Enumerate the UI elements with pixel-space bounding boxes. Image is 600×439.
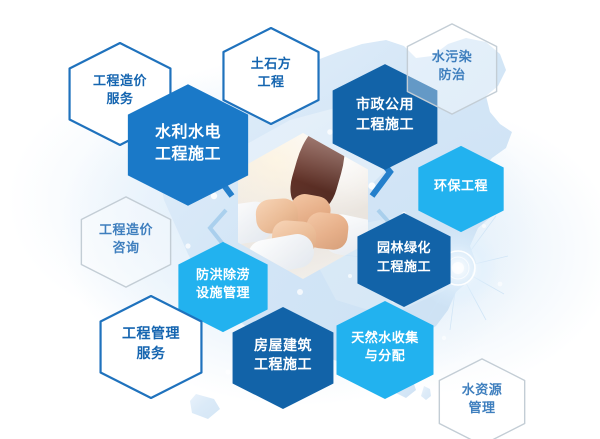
hexagon-label-line: 防洪除涝: [196, 268, 250, 284]
hexagon-label-line: 工程管理: [122, 326, 180, 344]
hexagon-label: 工程管理服务: [122, 326, 180, 363]
hexagon-label-line: 水资源: [462, 383, 503, 399]
hexagon-label-line: 园林绿化: [377, 241, 431, 257]
hexagon-label-line: 工程施工: [254, 357, 312, 375]
hexagon-natural-water-collection-distribution[interactable]: 天然水收集与分配: [335, 300, 435, 396]
infographic-canvas: 工程造价服务土石方工程水利水电工程施工市政公用工程施工水污染防治环保工程工程造价…: [0, 0, 600, 439]
hexagon-label-line: 水污染: [432, 50, 473, 66]
hexagon-label-line: 工程造价: [99, 223, 153, 239]
hexagon-label-line: 水利水电: [155, 122, 221, 142]
hexagon-label-line: 设施管理: [196, 286, 250, 302]
hexagon-building-construction-engineering[interactable]: 房屋建筑工程施工: [231, 306, 335, 406]
hexagon-label-line: 工程施工: [377, 260, 431, 276]
hexagon-label-line: 与分配: [351, 349, 419, 365]
hexagon-landscaping-engineering-construction[interactable]: 园林绿化工程施工: [356, 212, 452, 305]
hexagon-label-line: 天然水收集: [351, 331, 419, 347]
hexagon-label-line: 工程施工: [155, 144, 221, 164]
hexagon-label: 工程造价服务: [93, 74, 147, 109]
hexagon-label-line: 防治: [432, 68, 473, 84]
hexagon-label-line: 市政公用: [356, 97, 414, 115]
hexagon-label-line: 工程造价: [93, 74, 147, 90]
hexagon-label-line: 管理: [462, 401, 503, 417]
hexagon-label: 园林绿化工程施工: [377, 241, 431, 276]
hexagon-label-line: 土石方: [251, 57, 292, 73]
hexagon-label: 土石方工程: [251, 57, 292, 92]
hexagon-engineering-cost-consulting[interactable]: 工程造价咨询: [80, 196, 172, 284]
hexagon-label: 水污染防治: [432, 50, 473, 85]
hexagon-water-pollution-control[interactable]: 水污染防治: [406, 23, 498, 111]
hexagon-label: 工程造价咨询: [99, 223, 153, 258]
hexagon-label: 水利水电工程施工: [155, 122, 221, 164]
hexagon-label: 天然水收集与分配: [351, 331, 419, 366]
hexagon-label: 防洪除涝设施管理: [196, 268, 250, 303]
hexagon-label-line: 咨询: [99, 241, 153, 257]
hexagon-water-resources-management[interactable]: 水资源管理: [438, 358, 526, 439]
hexagon-label-line: 环保工程: [434, 179, 488, 195]
hexagon-label-line: 房屋建筑: [254, 338, 312, 356]
hexagon-label: 房屋建筑工程施工: [254, 338, 312, 375]
hexagon-label-line: 工程: [251, 75, 292, 91]
hexagon-engineering-management-service[interactable]: 工程管理服务: [99, 295, 203, 394]
hexagon-label: 环保工程: [434, 179, 488, 195]
hexagon-label: 市政公用工程施工: [356, 97, 414, 134]
hexagon-label-line: 工程施工: [356, 117, 414, 135]
hexagon-label-line: 服务: [93, 92, 147, 108]
hexagon-label-line: 服务: [122, 346, 180, 364]
hexagon-label: 水资源管理: [462, 383, 503, 418]
